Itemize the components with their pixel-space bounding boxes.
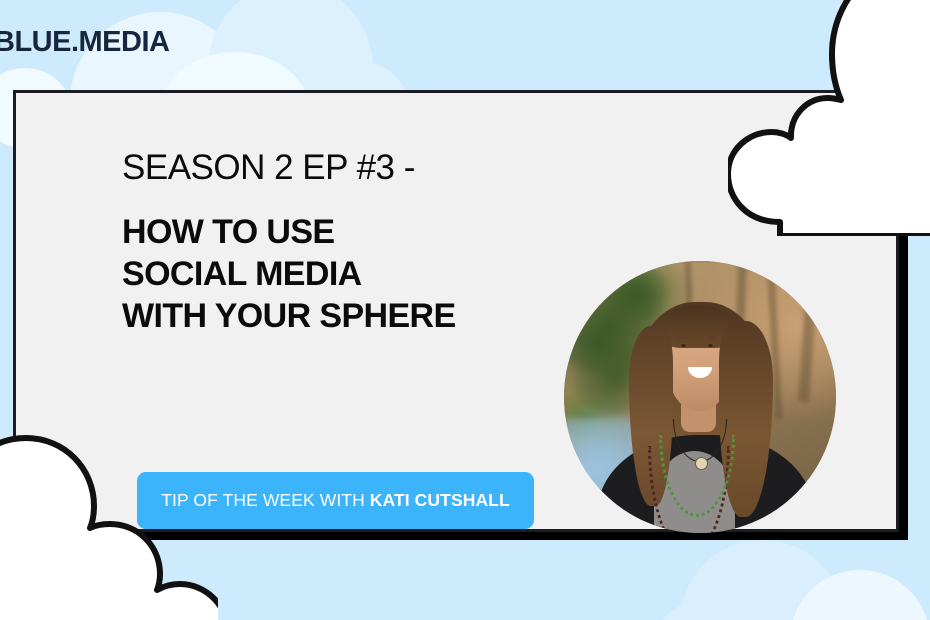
episode-topic-title: HOW TO USE SOCIAL MEDIA WITH YOUR SPHERE [122, 211, 552, 337]
headline-group: SEASON 2 EP #3 - HOW TO USE SOCIAL MEDIA… [122, 150, 552, 337]
eye-left [681, 344, 686, 347]
season-episode-line: SEASON 2 EP #3 - [122, 150, 552, 185]
topic-line-2: SOCIAL MEDIA [122, 253, 552, 295]
guest-portrait-avatar [564, 261, 836, 533]
eyebrow-left [678, 337, 686, 339]
cloud-bottom-left-icon [0, 428, 218, 620]
eyebrow-right [707, 337, 715, 339]
cloud-top-right-icon [728, 0, 930, 236]
topic-line-3: WITH YOUR SPHERE [122, 295, 552, 337]
guest-name: KATI CUTSHALL [370, 490, 510, 510]
slide-canvas: BLUE.MEDIA SEASON 2 EP #3 - HOW TO USE S… [0, 0, 930, 620]
topic-line-1: HOW TO USE [122, 211, 552, 253]
pendant [695, 457, 708, 470]
brand-logo: BLUE.MEDIA [0, 26, 169, 59]
